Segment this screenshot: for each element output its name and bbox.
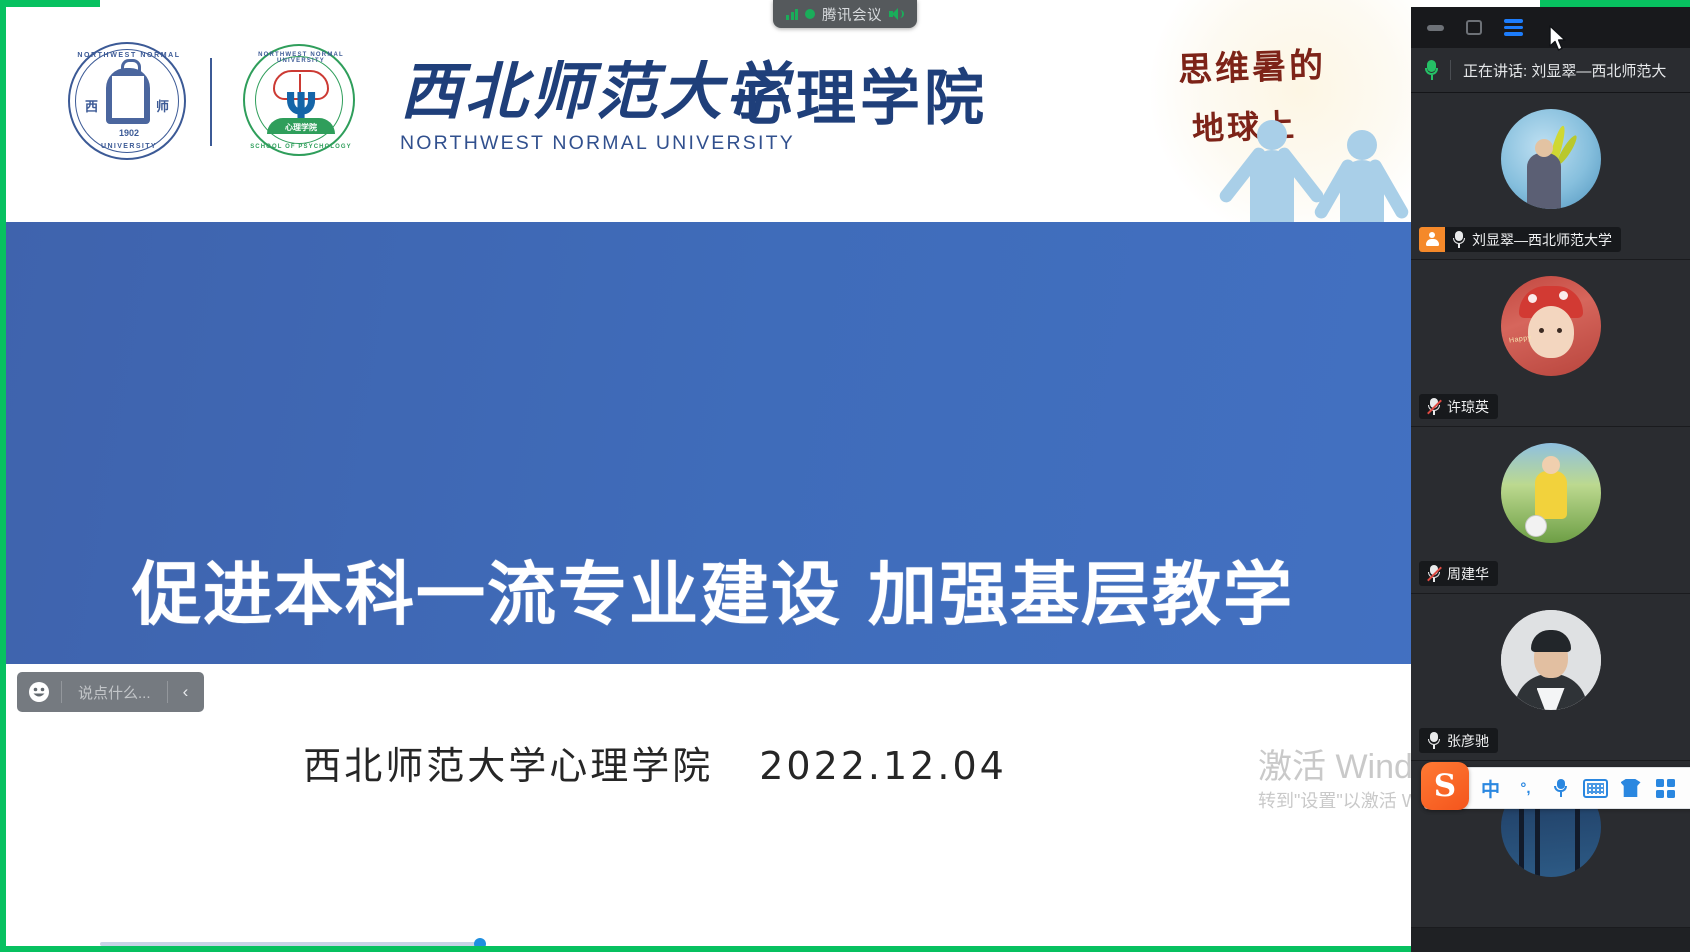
participant-namebar: 许琼英 (1419, 394, 1498, 419)
microphone-icon[interactable] (1545, 773, 1576, 804)
banner-calligraphy-line1: 思维暑的 (1177, 37, 1327, 91)
participant-namebar: 张彦驰 (1419, 728, 1498, 753)
participant-name: 许琼英 (1447, 397, 1489, 417)
ime-mode-button[interactable]: 中 (1475, 773, 1506, 804)
maximize-icon[interactable] (1466, 20, 1482, 35)
slide-progress-handle[interactable] (474, 938, 486, 950)
ime-punctuation-button[interactable]: °, (1510, 773, 1541, 804)
college-name-text: 心理学院 (732, 62, 988, 136)
seal-char-left: 西 (85, 96, 98, 115)
menu-icon[interactable] (1504, 19, 1523, 36)
speaker-icon[interactable] (889, 7, 904, 21)
slide-footer-org: 西北师范大学心理学院 (303, 744, 713, 788)
chat-input-bar[interactable]: 说点什么... ‹ (17, 672, 204, 712)
microphone-icon[interactable] (1452, 231, 1465, 249)
participant-name: 张彦驰 (1447, 731, 1489, 751)
active-speaker-bar: 正在讲话: 刘显翠—西北师范大 (1411, 48, 1690, 93)
slide-footer: 西北师范大学心理学院2022.12.04 (0, 735, 1310, 790)
seal-arc-top-text: NORTHWEST NORMAL (70, 52, 188, 59)
seal-char-right: 师 (156, 96, 169, 115)
participant-name: 周建华 (1447, 564, 1489, 584)
microphone-icon[interactable] (1427, 732, 1440, 750)
avatar (1501, 109, 1601, 209)
keyboard-icon[interactable] (1580, 773, 1611, 804)
participant-tile[interactable]: 张彦驰 (1411, 594, 1690, 761)
chat-input-placeholder[interactable]: 说点什么... (62, 672, 167, 712)
microphone-muted-icon[interactable] (1427, 398, 1440, 416)
panel-titlebar (1411, 7, 1690, 48)
microphone-muted-icon[interactable] (1427, 565, 1440, 583)
chevron-left-icon[interactable]: ‹ (168, 672, 204, 712)
participant-tile[interactable]: 周建华 (1411, 427, 1690, 594)
slide-title-line-1: 促进本科一流专业建设 加强基层教学 (132, 555, 1294, 635)
slide-progress-bar[interactable] (100, 942, 480, 946)
sogou-logo-icon[interactable]: S (1421, 762, 1469, 810)
microphone-icon (1425, 60, 1438, 80)
avatar (1501, 610, 1601, 710)
participant-namebar: 刘显翠—西北师范大学 (1419, 227, 1621, 252)
psy-arc-bottom-text: SCHOOL OF PSYCHOLOGY (245, 144, 357, 150)
active-speaker-text: 正在讲话: 刘显翠—西北师范大 (1463, 60, 1666, 81)
sogou-ime-toolbar[interactable]: S 中 °, (1424, 767, 1690, 809)
psy-arc-top-text: NORTHWEST NORMAL UNIVERSITY (245, 52, 357, 64)
avatar (1501, 443, 1601, 543)
minimize-icon[interactable] (1427, 25, 1444, 31)
seal-arc-bottom-text: UNIVERSITY (70, 143, 188, 150)
participant-name: 刘显翠—西北师范大学 (1472, 230, 1612, 250)
meeting-app-title: 腾讯会议 (822, 4, 882, 25)
host-badge-icon (1419, 227, 1445, 252)
seal-year: 1902 (70, 128, 188, 138)
participant-namebar: 周建华 (1419, 561, 1498, 586)
shirt-icon[interactable] (1615, 773, 1646, 804)
slide-footer-date: 2022.12.04 (759, 744, 1007, 788)
smiley-icon[interactable] (17, 672, 61, 712)
participant-tile[interactable]: Happy 许琼英 (1411, 260, 1690, 427)
signal-bars-icon (786, 8, 798, 20)
participant-tile[interactable]: 刘显翠—西北师范大学 (1411, 93, 1690, 260)
screen-root: NORTHWEST NORMAL 西 师 1902 UNIVERSITY NOR… (0, 0, 1690, 952)
psy-cn-label: 心理学院 (245, 122, 357, 133)
avatar: Happy (1501, 276, 1601, 376)
logo-divider (210, 58, 212, 146)
participant-video-panel: 正在讲话: 刘显翠—西北师范大 刘显翠—西北师范大学 (1411, 7, 1690, 952)
psychology-school-logo: NORTHWEST NORMAL UNIVERSITY Ψ 心理学院 SCHOO… (243, 44, 355, 156)
meeting-status-pill[interactable]: 腾讯会议 (773, 0, 917, 28)
grid-apps-icon[interactable] (1650, 773, 1681, 804)
university-seal-logo: NORTHWEST NORMAL 西 师 1902 UNIVERSITY (68, 42, 186, 160)
recording-dot-icon (805, 9, 815, 19)
